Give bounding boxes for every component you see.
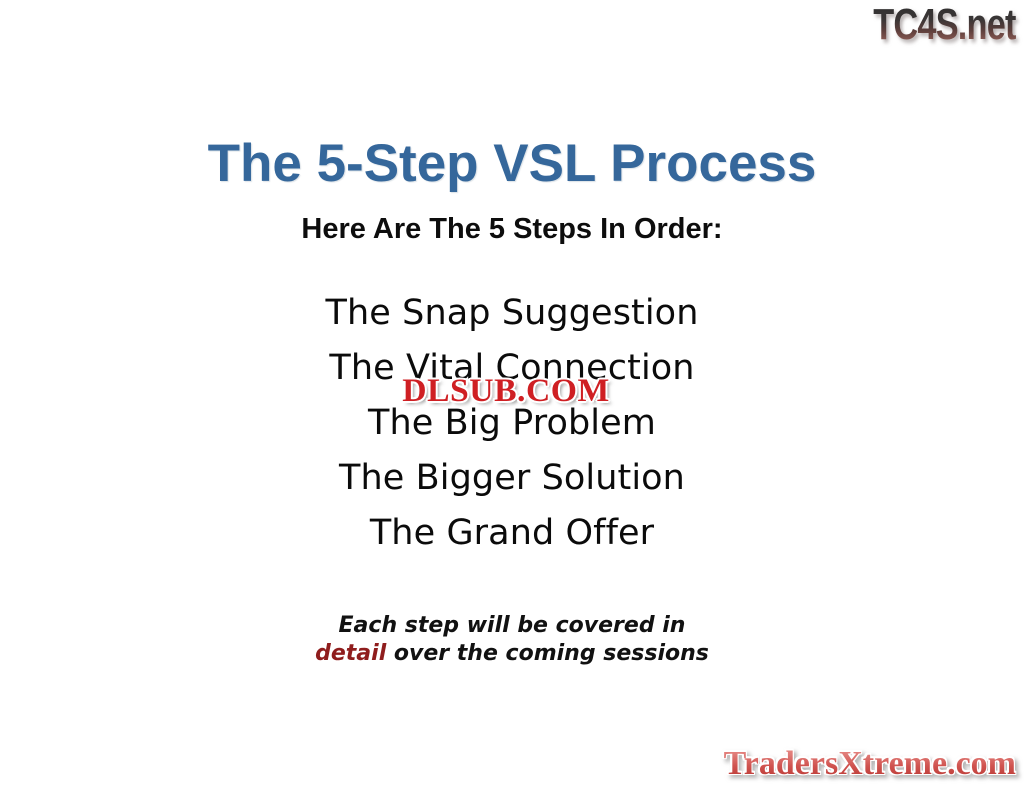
subtitle: Here Are The 5 Steps In Order: bbox=[0, 211, 1024, 247]
page-title: The 5-Step VSL Process bbox=[0, 134, 1024, 194]
tradersxtreme-logo: TradersXtreme.com bbox=[724, 745, 1016, 783]
dlsub-watermark: DLSUB.COM bbox=[355, 374, 657, 408]
list-item: The Grand Offer bbox=[0, 506, 1024, 561]
footnote-line-2: detail over the coming sessions bbox=[0, 640, 1024, 668]
footnote-line-2-rest: over the coming sessions bbox=[386, 641, 709, 666]
footnote-accent-word: detail bbox=[315, 641, 386, 666]
list-item: The Snap Suggestion bbox=[0, 286, 1024, 341]
list-item: The Bigger Solution bbox=[0, 451, 1024, 506]
steps-list: The Snap Suggestion The Vital Connection… bbox=[0, 286, 1024, 561]
footnote: Each step will be covered in detail over… bbox=[0, 612, 1024, 668]
tc4s-logo: TC4S.net bbox=[873, 2, 1016, 48]
footnote-line-1: Each step will be covered in bbox=[0, 612, 1024, 640]
slide-canvas: TC4S.net The 5-Step VSL Process Here Are… bbox=[0, 0, 1024, 791]
